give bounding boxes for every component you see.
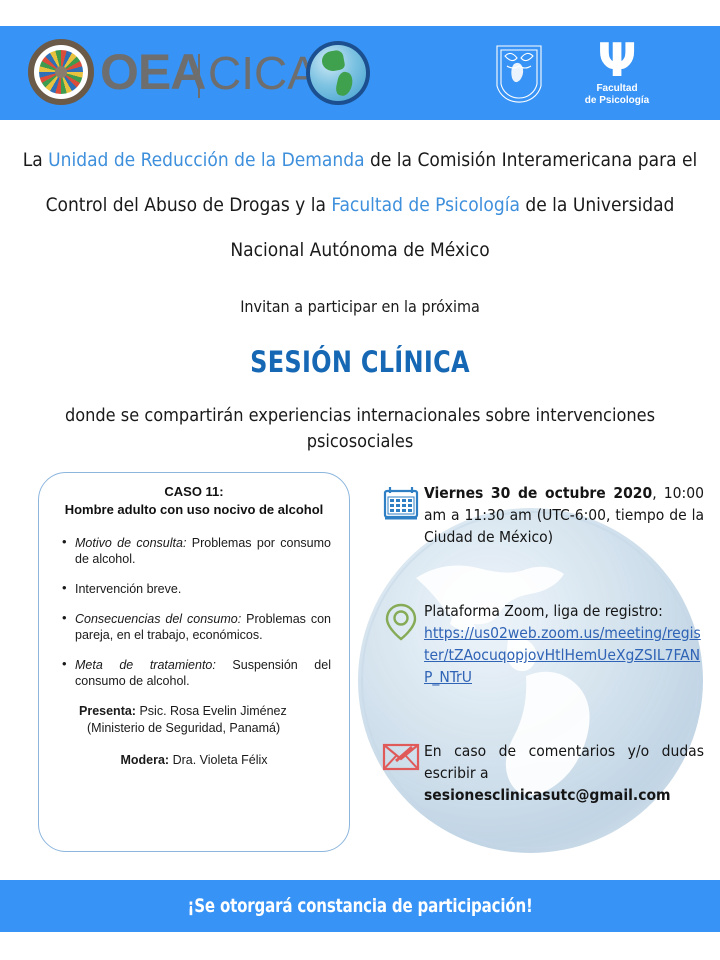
list-item: Intervención breve. (75, 581, 331, 597)
logo-strip: OEA CICAD Ψ Facultad (0, 26, 720, 120)
presenta-value: Psic. Rosa Evelin Jiménez (136, 704, 287, 718)
psi-icon: Ψ (576, 38, 658, 82)
bullet-label: Motivo de consulta: (75, 536, 186, 550)
list-item: Consecuencias del consumo: Problemas con… (75, 611, 331, 643)
platform-label: Plataforma Zoom, liga de registro: (424, 602, 663, 620)
moderator-block: Modera: Dra. Violeta Félix (53, 753, 335, 767)
list-item: Motivo de consulta: Problemas por consum… (75, 535, 331, 567)
date-time-text: Viernes 30 de octubre 2020, 10:00 am a 1… (424, 482, 704, 548)
modera-value: Dra. Violeta Félix (169, 753, 267, 767)
list-item: Meta de tratamiento: Suspensión del cons… (75, 657, 331, 689)
case-card-title: CASO 11: Hombre adulto con uso nocivo de… (53, 483, 335, 519)
top-banner: OEA CICAD Ψ Facultad (0, 26, 720, 120)
cicad-globe-icon (306, 41, 370, 105)
intro-part1: La (23, 149, 48, 171)
presenta-label: Presenta: (79, 704, 136, 718)
platform-row: Plataforma Zoom, liga de registro: https… (378, 600, 704, 688)
calendar-icon (378, 482, 424, 522)
oea-wordmark: OEA (100, 46, 205, 98)
subtitle-line: donde se compartirán experiencias intern… (10, 403, 710, 455)
oea-seal-icon (28, 39, 94, 105)
bullet-label: Consecuencias del consumo: (75, 612, 241, 626)
case-card: CASO 11: Hombre adulto con uso nocivo de… (38, 472, 350, 852)
invitation-line: Invitan a participar en la próxima (0, 297, 720, 316)
case-description: Hombre adulto con uso nocivo de alcohol (53, 501, 335, 519)
contact-label: En caso de comentarios y/o dudas escribi… (424, 742, 704, 782)
case-number: CASO 11: (53, 483, 335, 501)
bullet-label: Meta de tratamiento: (75, 658, 216, 672)
presenter-block: Presenta: Psic. Rosa Evelin Jiménez (Min… (53, 703, 335, 737)
psi-caption-line1: Facultad (576, 83, 658, 94)
case-bullet-list: Motivo de consulta: Problemas por consum… (53, 535, 335, 689)
modera-label: Modera: (120, 753, 169, 767)
envelope-icon (378, 740, 424, 772)
intro-highlight-unidad: Unidad de Reducción de la Demanda (48, 149, 364, 171)
zoom-registration-link[interactable]: https://us02web.zoom.us/meeting/register… (424, 624, 701, 686)
contact-email[interactable]: sesionesclinicasutc@gmail.com (424, 786, 671, 804)
intro-highlight-facultad: Facultad de Psicología (331, 194, 520, 216)
intro-paragraph: La Unidad de Reducción de la Demanda de … (14, 138, 706, 273)
unam-seal-icon (487, 40, 551, 104)
contact-row: En caso de comentarios y/o dudas escribi… (378, 740, 704, 806)
date-bold: Viernes 30 de octubre 2020 (424, 484, 652, 502)
bottom-banner: ¡Se otorgará constancia de participación… (0, 880, 720, 932)
psi-caption-line2: de Psicología (576, 95, 658, 106)
facultad-psicologia-logo: Ψ Facultad de Psicología (576, 38, 658, 110)
date-time-row: Viernes 30 de octubre 2020, 10:00 am a 1… (378, 482, 704, 548)
platform-text: Plataforma Zoom, liga de registro: https… (424, 600, 704, 688)
presenta-affiliation: (Ministerio de Seguridad, Panamá) (79, 720, 335, 737)
certificate-note: ¡Se otorgará constancia de participación… (187, 895, 532, 917)
page-title: SESIÓN CLÍNICA (29, 345, 691, 379)
contact-text: En caso de comentarios y/o dudas escribi… (424, 740, 704, 806)
bullet-text: Intervención breve. (75, 582, 181, 596)
logo-divider (198, 54, 200, 98)
location-pin-icon (378, 600, 424, 642)
